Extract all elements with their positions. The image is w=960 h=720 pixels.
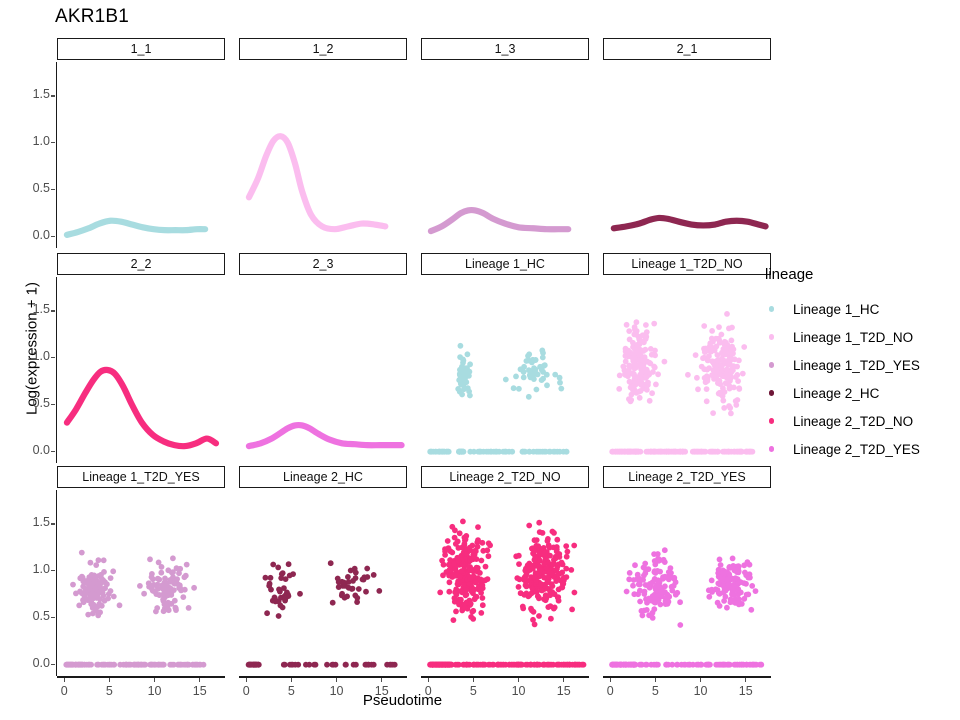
x-tick-label: 0 bbox=[53, 684, 75, 698]
facet-strip-label: Lineage 1_T2D_NO bbox=[603, 253, 771, 275]
facet-panel-1-2: 1_2 bbox=[239, 38, 407, 248]
legend-item-label: Lineage 1_T2D_NO bbox=[793, 330, 913, 345]
y-tick-mark bbox=[51, 451, 55, 452]
page-title: AKR1B1 bbox=[55, 6, 129, 28]
x-tick-label: 5 bbox=[98, 684, 120, 698]
legend-title: lineage bbox=[765, 266, 953, 283]
legend-item-label: Lineage 1_T2D_YES bbox=[793, 358, 920, 373]
series-curve bbox=[603, 62, 771, 248]
legend-item-label: Lineage 2_T2D_NO bbox=[793, 414, 913, 429]
facet-panel-lineage-1-hc: Lineage 1_HC bbox=[421, 253, 589, 463]
facet-plot-area bbox=[603, 277, 771, 463]
facet-plot-area bbox=[421, 62, 589, 248]
facet-panel-lineage-2-t2d-no: Lineage 2_T2D_NO bbox=[421, 466, 589, 676]
y-tick-mark bbox=[51, 310, 55, 311]
legend-item-label: Lineage 2_HC bbox=[793, 386, 879, 401]
x-tick-label: 10 bbox=[326, 684, 348, 698]
y-tick-mark bbox=[51, 95, 55, 96]
facet-panel-lineage-1-t2d-no: Lineage 1_T2D_NO bbox=[603, 253, 771, 463]
x-tick-mark bbox=[291, 678, 292, 682]
x-tick-mark bbox=[64, 678, 65, 682]
facet-plot-area bbox=[239, 62, 407, 248]
chart-root: AKR1B1 Log(expression + 1) Pseudotime 1_… bbox=[0, 0, 960, 720]
legend-swatch-icon bbox=[763, 357, 780, 374]
legend-swatch-icon bbox=[763, 413, 780, 430]
facet-strip-label: 1_3 bbox=[421, 38, 589, 60]
y-tick-label: 1.0 bbox=[16, 349, 50, 363]
facet-panel-2-3: 2_3 bbox=[239, 253, 407, 463]
facet-strip-label: Lineage 2_T2D_NO bbox=[421, 466, 589, 488]
legend-item-label: Lineage 2_T2D_YES bbox=[793, 442, 920, 457]
y-tick-label: 0.0 bbox=[16, 228, 50, 242]
x-tick-label: 5 bbox=[462, 684, 484, 698]
y-tick-mark bbox=[51, 523, 55, 524]
facet-strip-label: 2_1 bbox=[603, 38, 771, 60]
facet-plot-area bbox=[421, 490, 589, 676]
y-tick-mark bbox=[51, 664, 55, 665]
facet-panel-lineage-1-t2d-yes: Lineage 1_T2D_YES bbox=[57, 466, 225, 676]
x-tick-label: 15 bbox=[735, 684, 757, 698]
y-tick-label: 1.0 bbox=[16, 134, 50, 148]
x-tick-label: 5 bbox=[280, 684, 302, 698]
x-tick-label: 10 bbox=[144, 684, 166, 698]
legend-swatch-icon bbox=[763, 329, 780, 346]
legend-item-label: Lineage 1_HC bbox=[793, 302, 879, 317]
x-tick-mark bbox=[336, 678, 337, 682]
facet-plot-area bbox=[603, 490, 771, 676]
y-tick-mark bbox=[51, 357, 55, 358]
series-scatter bbox=[57, 490, 225, 676]
x-tick-mark bbox=[199, 678, 200, 682]
facet-strip-label: Lineage 1_HC bbox=[421, 253, 589, 275]
facet-panel-1-1: 1_1 bbox=[57, 38, 225, 248]
y-tick-label: 1.5 bbox=[16, 302, 50, 316]
legend-swatch-icon bbox=[763, 441, 780, 458]
facet-plot-area bbox=[421, 277, 589, 463]
y-axis-line bbox=[56, 490, 58, 676]
facet-strip-label: 2_2 bbox=[57, 253, 225, 275]
facet-plot-area bbox=[239, 490, 407, 676]
legend-entries: Lineage 1_HC Lineage 1_T2D_NO Lineage 1_… bbox=[763, 295, 953, 463]
x-tick-label: 10 bbox=[690, 684, 712, 698]
x-tick-label: 5 bbox=[644, 684, 666, 698]
series-scatter bbox=[603, 277, 771, 463]
x-tick-label: 15 bbox=[371, 684, 393, 698]
facet-panel-2-1: 2_1 bbox=[603, 38, 771, 248]
y-tick-label: 1.5 bbox=[16, 87, 50, 101]
x-tick-label: 15 bbox=[553, 684, 575, 698]
x-tick-mark bbox=[563, 678, 564, 682]
x-tick-label: 15 bbox=[189, 684, 211, 698]
x-tick-mark bbox=[381, 678, 382, 682]
y-tick-label: 0.0 bbox=[16, 443, 50, 457]
x-tick-mark bbox=[473, 678, 474, 682]
facet-plot-area bbox=[57, 277, 225, 463]
legend-item-lineage-1-t2d-no[interactable]: Lineage 1_T2D_NO bbox=[763, 323, 953, 351]
x-tick-mark bbox=[700, 678, 701, 682]
facet-plot-area bbox=[57, 490, 225, 676]
legend-item-lineage-2-hc[interactable]: Lineage 2_HC bbox=[763, 379, 953, 407]
series-curve bbox=[239, 62, 407, 248]
facet-strip-label: 1_1 bbox=[57, 38, 225, 60]
legend-item-lineage-2-t2d-yes[interactable]: Lineage 2_T2D_YES bbox=[763, 435, 953, 463]
y-axis-line bbox=[56, 62, 58, 248]
series-curve bbox=[57, 277, 225, 463]
facet-strip-label: Lineage 2_T2D_YES bbox=[603, 466, 771, 488]
y-tick-label: 0.0 bbox=[16, 656, 50, 670]
facet-plot-area bbox=[239, 277, 407, 463]
y-tick-label: 1.0 bbox=[16, 562, 50, 576]
series-scatter bbox=[239, 490, 407, 676]
x-tick-mark bbox=[518, 678, 519, 682]
y-tick-mark bbox=[51, 404, 55, 405]
series-scatter bbox=[421, 277, 589, 463]
x-tick-label: 0 bbox=[235, 684, 257, 698]
y-tick-mark bbox=[51, 142, 55, 143]
series-curve bbox=[239, 277, 407, 463]
x-tick-mark bbox=[246, 678, 247, 682]
y-tick-mark bbox=[51, 189, 55, 190]
x-tick-label: 0 bbox=[599, 684, 621, 698]
x-tick-mark bbox=[154, 678, 155, 682]
facet-panel-2-2: 2_2 bbox=[57, 253, 225, 463]
y-axis-line bbox=[56, 277, 58, 463]
facet-panel-1-3: 1_3 bbox=[421, 38, 589, 248]
x-tick-label: 0 bbox=[417, 684, 439, 698]
facet-plot-area bbox=[603, 62, 771, 248]
legend-swatch-icon bbox=[763, 385, 780, 402]
series-scatter bbox=[603, 490, 771, 676]
facet-plot-area bbox=[57, 62, 225, 248]
y-tick-label: 0.5 bbox=[16, 609, 50, 623]
facet-strip-label: Lineage 2_HC bbox=[239, 466, 407, 488]
x-tick-mark bbox=[610, 678, 611, 682]
y-tick-mark bbox=[51, 617, 55, 618]
legend-swatch-icon bbox=[763, 301, 780, 318]
series-scatter bbox=[421, 490, 589, 676]
y-tick-label: 0.5 bbox=[16, 396, 50, 410]
facet-panel-lineage-2-t2d-yes: Lineage 2_T2D_YES bbox=[603, 466, 771, 676]
legend: lineage Lineage 1_HC Lineage 1_T2D_NO Li… bbox=[763, 266, 953, 463]
series-curve bbox=[421, 62, 589, 248]
x-tick-mark bbox=[428, 678, 429, 682]
legend-item-lineage-1-t2d-yes[interactable]: Lineage 1_T2D_YES bbox=[763, 351, 953, 379]
facet-strip-label: 2_3 bbox=[239, 253, 407, 275]
x-tick-mark bbox=[655, 678, 656, 682]
y-tick-label: 0.5 bbox=[16, 181, 50, 195]
y-tick-label: 1.5 bbox=[16, 515, 50, 529]
y-tick-mark bbox=[51, 236, 55, 237]
y-tick-mark bbox=[51, 570, 55, 571]
facet-strip-label: Lineage 1_T2D_YES bbox=[57, 466, 225, 488]
x-tick-mark bbox=[109, 678, 110, 682]
facet-strip-label: 1_2 bbox=[239, 38, 407, 60]
facet-panel-lineage-2-hc: Lineage 2_HC bbox=[239, 466, 407, 676]
legend-item-lineage-2-t2d-no[interactable]: Lineage 2_T2D_NO bbox=[763, 407, 953, 435]
legend-item-lineage-1-hc[interactable]: Lineage 1_HC bbox=[763, 295, 953, 323]
x-tick-mark bbox=[745, 678, 746, 682]
x-tick-label: 10 bbox=[508, 684, 530, 698]
series-curve bbox=[57, 62, 225, 248]
